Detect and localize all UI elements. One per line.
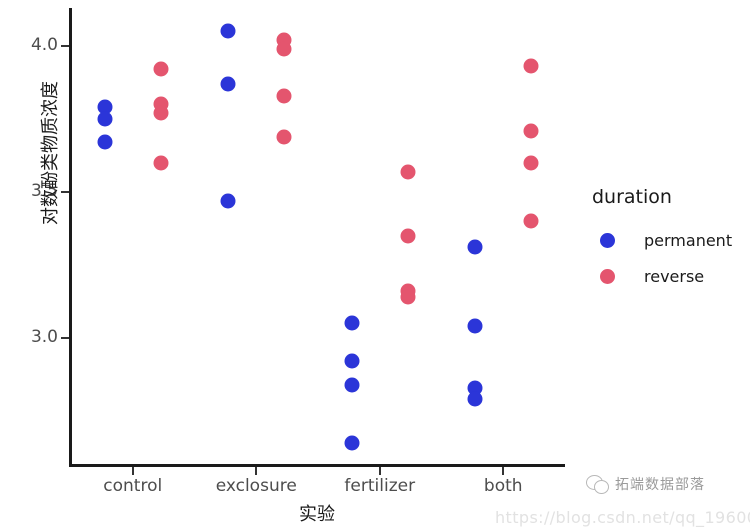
y-tick-label: 3.0 (22, 327, 58, 347)
x-tick-mark (255, 467, 257, 475)
x-tick-label: control (103, 476, 162, 496)
data-point (221, 193, 236, 208)
wechat-watermark-text: 拓端数据部落 (615, 474, 705, 494)
legend-label: permanent (644, 231, 732, 250)
data-point (524, 214, 539, 229)
data-point (524, 123, 539, 138)
legend-key (592, 269, 622, 284)
data-point (400, 164, 415, 179)
data-point (344, 436, 359, 451)
x-tick-label: both (484, 476, 523, 496)
legend-entry-permanent[interactable]: permanent (592, 222, 742, 258)
legend: duration permanentreverse (592, 186, 742, 294)
data-point (468, 240, 483, 255)
y-tick-mark (61, 337, 69, 339)
data-point (400, 290, 415, 305)
legend-title: duration (592, 186, 742, 208)
legend-dot-icon (600, 233, 615, 248)
data-point (468, 392, 483, 407)
data-point (153, 155, 168, 170)
x-tick-mark (132, 467, 134, 475)
legend-label: reverse (644, 267, 704, 286)
data-point (277, 88, 292, 103)
scatter-plot: 3.03.54.0 controlexclosurefertilizerboth… (0, 0, 750, 532)
x-tick-label: fertilizer (344, 476, 415, 496)
data-point (277, 129, 292, 144)
legend-entry-reverse[interactable]: reverse (592, 258, 742, 294)
legend-key (592, 233, 622, 248)
data-point (221, 76, 236, 91)
data-point (344, 316, 359, 331)
csdn-watermark-url: https://blog.csdn.net/qq_19600291 (495, 508, 750, 527)
y-axis-line (69, 8, 72, 467)
legend-entries: permanentreverse (592, 222, 742, 294)
data-point (153, 62, 168, 77)
x-tick-mark (502, 467, 504, 475)
data-point (97, 112, 112, 127)
data-point (344, 377, 359, 392)
y-tick-mark (61, 45, 69, 47)
x-tick-mark (379, 467, 381, 475)
wechat-icon (586, 475, 608, 493)
data-point (344, 354, 359, 369)
wechat-watermark: 拓端数据部落 (586, 474, 705, 494)
data-point (524, 155, 539, 170)
data-point (400, 228, 415, 243)
legend-dot-icon (600, 269, 615, 284)
plot-panel (71, 8, 565, 466)
data-point (468, 319, 483, 334)
data-point (221, 24, 236, 39)
data-point (524, 59, 539, 74)
x-tick-label: exclosure (216, 476, 297, 496)
y-axis-title: 对数酚类物质浓度 (36, 28, 62, 278)
data-point (97, 135, 112, 150)
data-point (153, 106, 168, 121)
data-point (277, 41, 292, 56)
x-axis-line (69, 464, 565, 467)
y-tick-mark (61, 191, 69, 193)
